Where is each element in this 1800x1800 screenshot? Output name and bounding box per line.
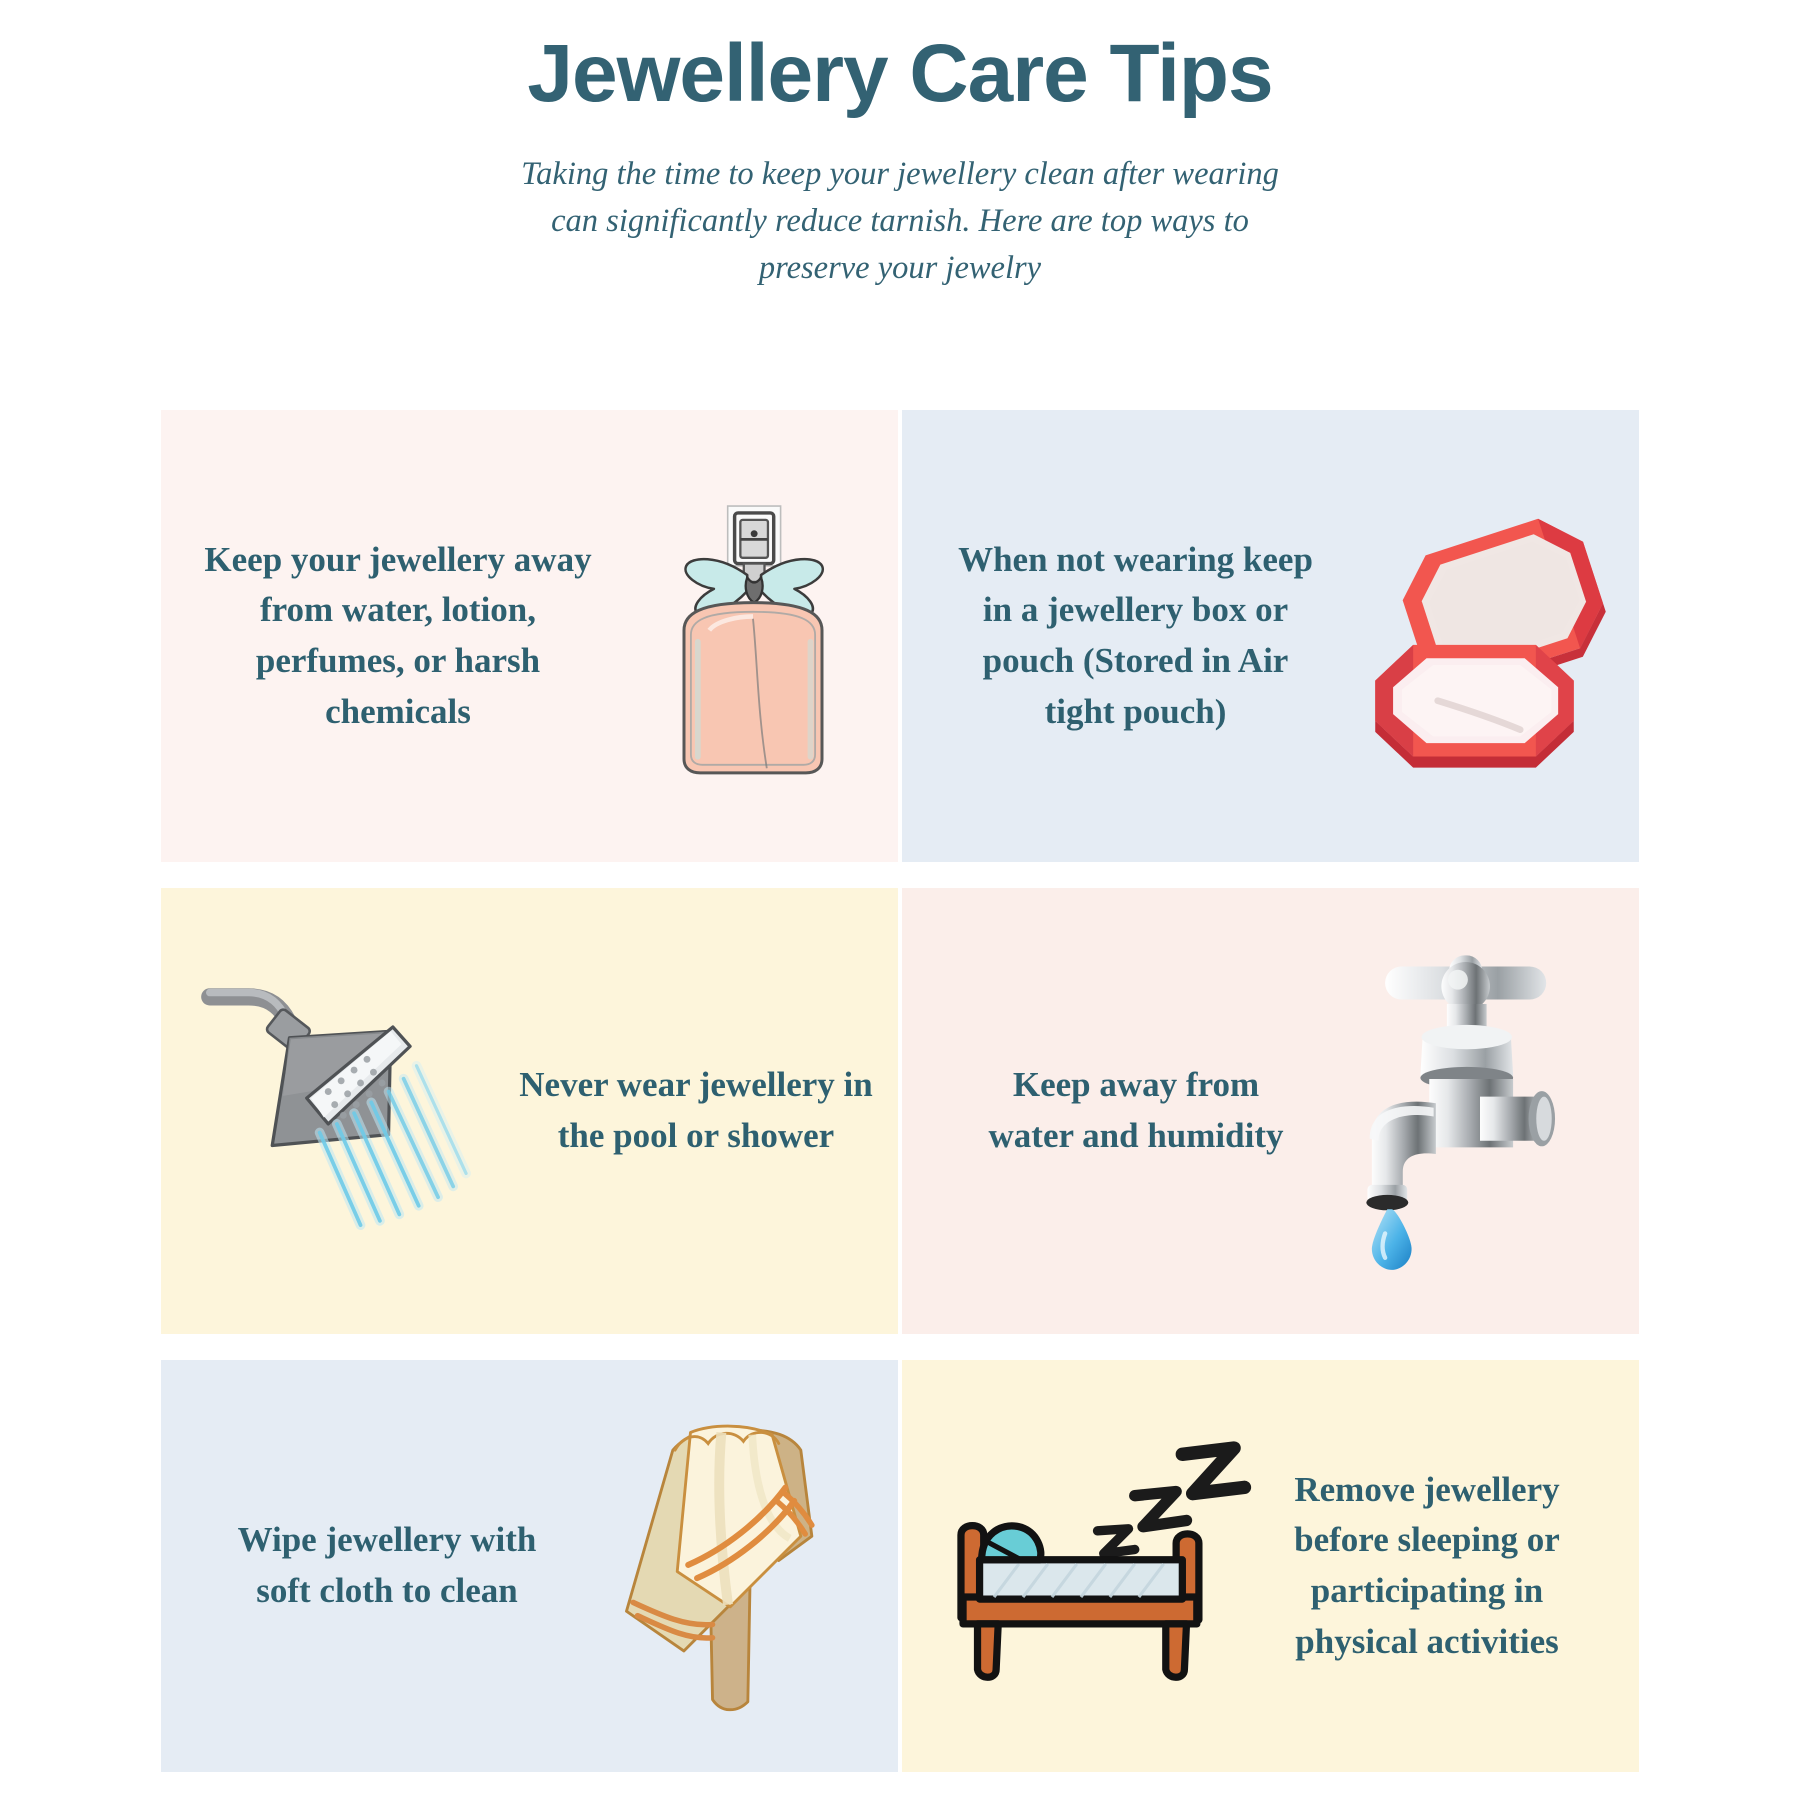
jewellery-box-icon — [1339, 486, 1639, 786]
tip-text: Keep away from water and humidity — [956, 1060, 1316, 1162]
tip-card-chemicals: Keep your jewellery away from water, lot… — [161, 410, 898, 862]
tip-text: Remove jewellery before sleeping or part… — [1242, 1465, 1612, 1668]
shower-head-icon — [189, 961, 489, 1261]
page-subtitle: Taking the time to keep your jewellery c… — [500, 151, 1300, 292]
tips-grid: Keep your jewellery away from water, lot… — [161, 410, 1639, 1772]
infographic-page: Jewellery Care Tips Taking the time to k… — [0, 0, 1800, 1800]
cloth-icon — [583, 1401, 883, 1731]
tip-text: Keep your jewellery away from water, lot… — [183, 535, 613, 738]
tip-card-sleeping: Remove jewellery before sleeping or part… — [902, 1360, 1639, 1772]
bed-sleeping-icon — [922, 1421, 1242, 1711]
tip-card-storage: When not wearing keep in a jewellery box… — [902, 410, 1639, 862]
tip-text: Never wear jewellery in the pool or show… — [501, 1060, 891, 1162]
faucet-icon — [1330, 946, 1630, 1276]
header: Jewellery Care Tips Taking the time to k… — [0, 26, 1800, 292]
tip-card-pool-shower: Never wear jewellery in the pool or show… — [161, 888, 898, 1334]
perfume-bottle-icon — [613, 471, 893, 801]
tip-card-wipe-cloth: Wipe jewellery with soft cloth to clean — [161, 1360, 898, 1772]
tip-text: When not wearing keep in a jewellery box… — [936, 535, 1335, 738]
tip-card-humidity: Keep away from water and humidity — [902, 888, 1639, 1334]
tip-text: Wipe jewellery with soft cloth to clean — [197, 1515, 577, 1617]
page-title: Jewellery Care Tips — [0, 26, 1800, 123]
